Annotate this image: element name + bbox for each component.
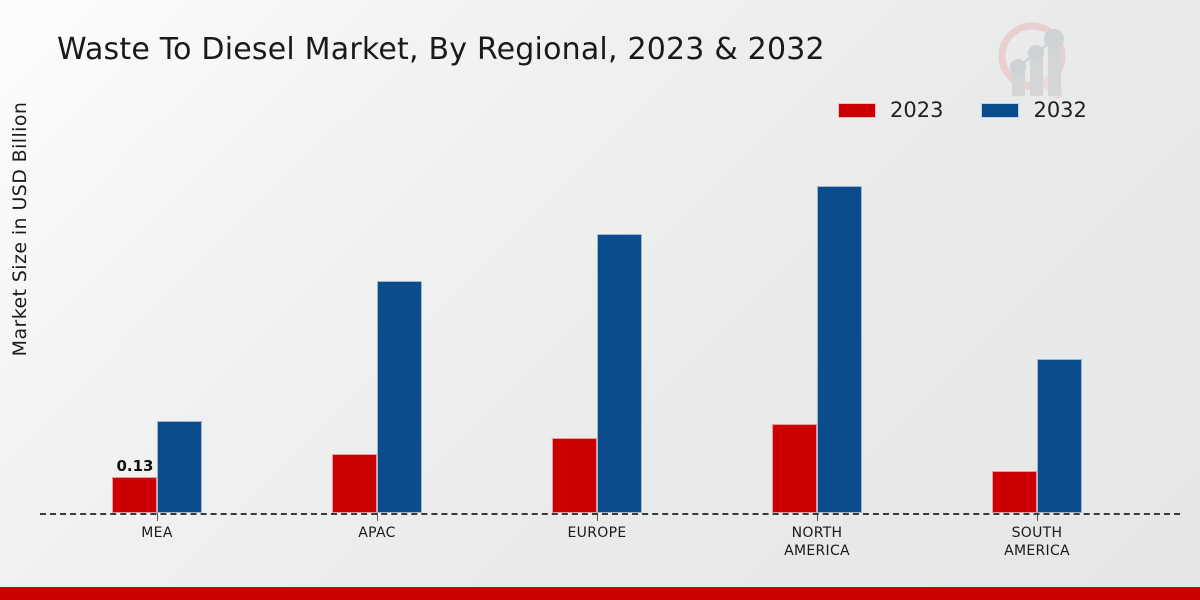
x-axis-label-line: SOUTH xyxy=(947,525,1127,543)
y-axis-title: Market Size in USD Billion xyxy=(9,59,31,399)
x-axis-label-line: NORTH xyxy=(727,525,907,543)
bar-apac-2023[interactable] xyxy=(332,454,377,513)
bar-mea-2032[interactable] xyxy=(157,421,202,513)
chart-legend: 2023 2032 xyxy=(838,100,1087,121)
chart-title: Waste To Diesel Market, By Regional, 202… xyxy=(57,32,825,67)
legend-label-2023: 2023 xyxy=(890,100,943,121)
bar-mea-2023[interactable]: 0.13 xyxy=(112,477,157,513)
plot-area: 0.13MEAAPACEUROPENORTHAMERICASOUTHAMERIC… xyxy=(40,150,1180,513)
bar-north-america-2023[interactable] xyxy=(772,424,817,513)
bar-europe-2032[interactable] xyxy=(597,234,642,513)
legend-item-2023[interactable]: 2023 xyxy=(838,100,943,121)
watermark-logo xyxy=(986,12,1086,108)
bar-south-america-2023[interactable] xyxy=(992,471,1037,513)
x-axis-label-south-america: SOUTHAMERICA xyxy=(947,525,1127,561)
bar-group: NORTHAMERICA xyxy=(772,150,862,513)
x-axis-label-north-america: NORTHAMERICA xyxy=(727,525,907,561)
magnifier-bar-chart-logo-icon xyxy=(986,12,1086,108)
x-axis-label-europe: EUROPE xyxy=(507,525,687,543)
bar-europe-2023[interactable] xyxy=(552,438,597,513)
bar-group: SOUTHAMERICA xyxy=(992,150,1082,513)
bar-group: 0.13MEA xyxy=(112,150,202,513)
bar-value-label: 0.13 xyxy=(107,457,163,475)
bar-north-america-2032[interactable] xyxy=(817,186,862,513)
legend-item-2032[interactable]: 2032 xyxy=(981,100,1086,121)
x-axis-baseline xyxy=(40,513,1180,515)
chart-container: Waste To Diesel Market, By Regional, 202… xyxy=(0,0,1200,600)
x-axis-label-mea: MEA xyxy=(67,525,247,543)
bar-group: EUROPE xyxy=(552,150,642,513)
x-axis-label-line: EUROPE xyxy=(507,525,687,543)
x-axis-label-line: AMERICA xyxy=(947,543,1127,561)
legend-label-2032: 2032 xyxy=(1033,100,1086,121)
bar-group: APAC xyxy=(332,150,422,513)
bar-groups: 0.13MEAAPACEUROPENORTHAMERICASOUTHAMERIC… xyxy=(40,150,1180,513)
x-axis-label-apac: APAC xyxy=(287,525,467,543)
legend-swatch-2032 xyxy=(981,103,1019,118)
x-axis-label-line: APAC xyxy=(287,525,467,543)
bar-south-america-2032[interactable] xyxy=(1037,359,1082,513)
footer-stripe xyxy=(0,587,1200,600)
x-axis-label-line: AMERICA xyxy=(727,543,907,561)
legend-swatch-2023 xyxy=(838,103,876,118)
bar-apac-2032[interactable] xyxy=(377,281,422,513)
x-axis-label-line: MEA xyxy=(67,525,247,543)
